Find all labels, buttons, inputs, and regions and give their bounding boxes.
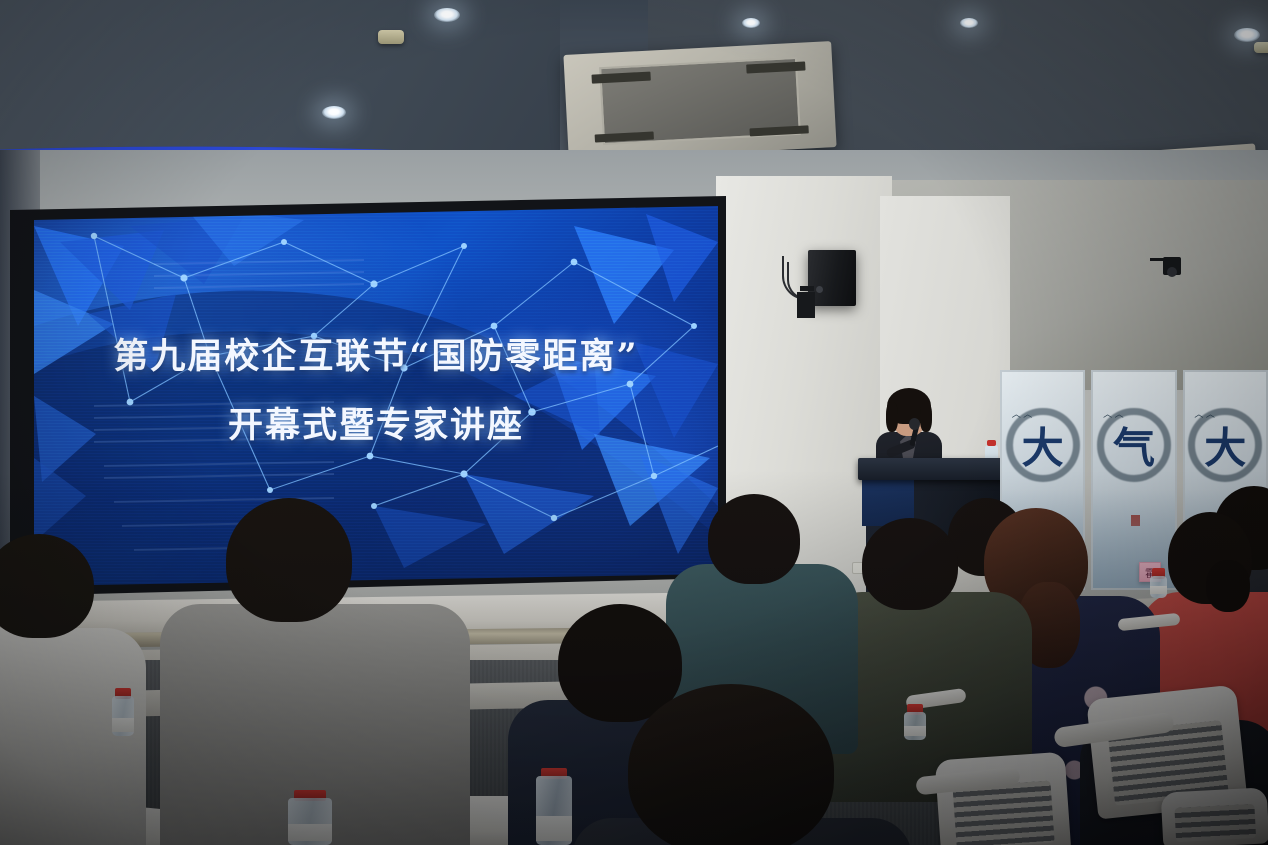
person-head [628,684,834,845]
person-torso [0,628,146,845]
person-head [708,494,800,584]
white-slatted-chair[interactable] [935,752,1072,845]
speaker-bracket-arm [800,286,814,291]
bottle-body [288,798,332,845]
chair-backrest-slats [1174,804,1256,843]
ceiling-cassette-air-conditioner [563,41,836,161]
led-screen[interactable]: 第九届校企互联节“国防零距离” 开幕式暨专家讲座 [34,206,718,586]
bottle-label [112,718,134,732]
chair-backrest-slats [952,781,1055,845]
water-bottle [1150,568,1167,598]
recessed-downlight [960,18,978,28]
screen-title-line-2: 开幕式暨专家讲座 [34,407,718,446]
recessed-downlight [1234,28,1260,42]
water-bottle [536,768,572,845]
bottle-label [1150,586,1167,594]
bottle-body [536,776,572,845]
person-head [226,498,352,622]
bottle-body [1150,576,1167,598]
smoke-detector [1254,42,1268,53]
person-head [862,518,958,610]
smoke-detector [378,30,404,44]
presenter-hair-side [886,402,898,432]
water-bottle [112,688,134,736]
bottle-label [288,824,332,841]
calligraphy-glyph: 大 [1204,415,1246,476]
person-hair-bun [1206,560,1250,612]
water-bottle [904,704,926,740]
bottle-label [904,726,926,736]
recessed-downlight [742,18,760,28]
presenter-hair-side [920,402,932,432]
speaker-bracket [797,292,815,318]
bottle-body [112,696,134,736]
calligraphy-glyph: 气 [1113,415,1155,476]
conference-room-photo: 第九届校企互联节“国防零距离” 开幕式暨专家讲座 ︿ ︿ 大 ︿ ︿ 气 [0,0,1268,845]
screen-title-block: 第九届校企互联节“国防零距离” 开幕式暨专家讲座 [34,338,718,445]
recessed-downlight [434,8,460,22]
wall-mounted-loudspeaker [808,250,856,306]
screen-title-line-1: 第九届校企互联节“国防零距离” [34,338,718,377]
bottle-label [536,816,572,841]
calligraphy-panel: ︿ ︿ 气 [1091,370,1176,590]
white-slatted-chair[interactable] [1161,787,1268,845]
calligraphy-glyph: 大 [1022,415,1064,476]
microphone-head [909,418,920,430]
recessed-downlight [322,106,346,119]
bottle-body [904,712,926,740]
water-bottle [288,790,332,845]
ceiling-surveillance-camera [1163,257,1181,275]
